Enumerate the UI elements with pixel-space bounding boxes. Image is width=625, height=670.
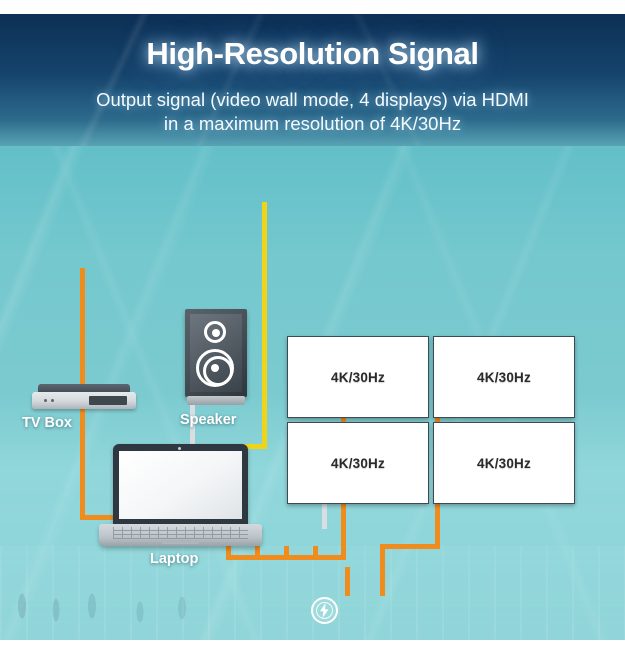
set-top-box-icon xyxy=(32,384,136,414)
page-title: High-Resolution Signal xyxy=(0,36,625,72)
speaker-tweeter xyxy=(204,321,226,343)
tvbox-slot xyxy=(89,396,127,405)
speaker-icon xyxy=(185,309,247,409)
display-resolution-label: 4K/30Hz xyxy=(331,370,385,385)
laptop-label: Laptop xyxy=(150,551,198,567)
laptop-keyboard xyxy=(113,527,248,539)
speaker-woofer xyxy=(196,349,234,387)
speaker-base xyxy=(187,396,245,405)
subtitle-line-2: in a maximum resolution of 4K/30Hz xyxy=(0,112,625,136)
power-bolt-icon xyxy=(311,597,338,624)
subtitle-line-1: Output signal (video wall mode, 4 displa… xyxy=(0,88,625,112)
scene-background-people xyxy=(0,566,260,640)
tvbox-led-1 xyxy=(44,399,47,402)
hdmi-out4-horizontal-mid xyxy=(380,544,440,549)
hdmi-out4-vertical-lower xyxy=(380,544,385,596)
page-subtitle: Output signal (video wall mode, 4 displa… xyxy=(0,88,625,136)
tv-box-label: TV Box xyxy=(22,415,72,431)
display-panel-4[interactable]: 4K/30Hz xyxy=(433,422,575,504)
hdmi-out3-stub xyxy=(284,546,289,560)
display-panel-1[interactable]: 4K/30Hz xyxy=(287,336,429,418)
hdmi-lower-run-vertical xyxy=(345,567,350,596)
header-banner: High-Resolution Signal Output signal (vi… xyxy=(0,14,625,146)
infographic-canvas: High-Resolution Signal Output signal (vi… xyxy=(0,0,625,670)
lightning-bolt-glyph xyxy=(318,603,331,618)
speaker-label: Speaker xyxy=(180,412,236,428)
laptop-screen xyxy=(119,451,242,519)
display-panel-2[interactable]: 4K/30Hz xyxy=(433,336,575,418)
diagram-scene: 4K/30Hz 4K/30Hz 4K/30Hz 4K/30Hz TV Box xyxy=(0,146,625,640)
laptop-trackpad xyxy=(162,540,199,544)
display-panel-3[interactable]: 4K/30Hz xyxy=(287,422,429,504)
laptop-icon xyxy=(99,444,262,554)
video-wall: 4K/30Hz 4K/30Hz 4K/30Hz 4K/30Hz xyxy=(287,336,575,504)
footer-white-band xyxy=(0,640,625,670)
hdmi-out4-stub xyxy=(313,546,318,560)
laptop-webcam xyxy=(178,447,181,450)
audio-cable-speaker-vertical xyxy=(262,202,267,448)
tvbox-led-2 xyxy=(51,399,54,402)
display-resolution-label: 4K/30Hz xyxy=(477,370,531,385)
display-resolution-label: 4K/30Hz xyxy=(477,456,531,471)
display-resolution-label: 4K/30Hz xyxy=(331,456,385,471)
